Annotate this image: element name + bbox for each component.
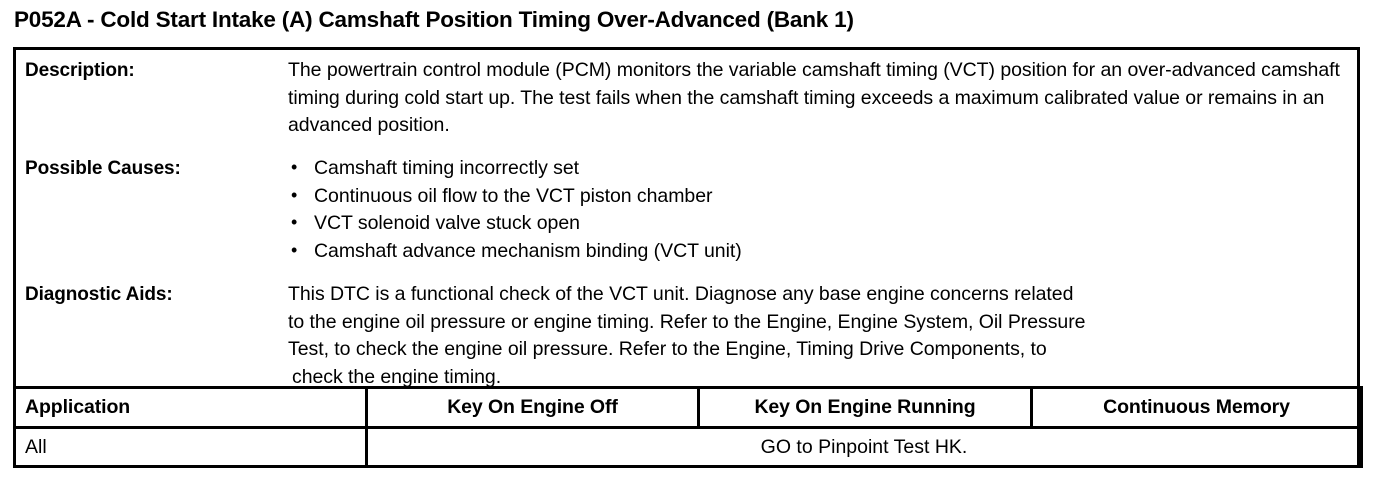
list-item-label: Continuous oil flow to the VCT piston ch…	[314, 185, 712, 207]
diagnostic-aids-line-3: Test, to check the engine oil pressure. …	[288, 336, 1343, 364]
list-item-label: VCT solenoid valve stuck open	[314, 212, 580, 234]
cell-action: GO to Pinpoint Test HK.	[367, 428, 1362, 467]
cell-application: All	[15, 428, 367, 467]
possible-causes-label: Possible Causes:	[16, 155, 288, 265]
column-header-continuous-memory: Continuous Memory	[1032, 388, 1362, 428]
description-label: Description:	[16, 57, 288, 140]
dtc-page: P052A - Cold Start Intake (A) Camshaft P…	[0, 0, 1392, 488]
list-item: • VCT solenoid valve stuck open	[288, 210, 1343, 238]
list-item: • Camshaft advance mechanism binding (VC…	[288, 238, 1343, 266]
column-header-key-on-engine-off: Key On Engine Off	[367, 388, 699, 428]
list-item: • Continuous oil flow to the VCT piston …	[288, 183, 1343, 211]
page-title: P052A - Cold Start Intake (A) Camshaft P…	[14, 7, 854, 33]
bullet-icon: •	[291, 209, 297, 237]
bullet-icon: •	[291, 154, 297, 182]
section-possible-causes: Possible Causes: • Camshaft timing incor…	[16, 155, 1357, 265]
table-header-row: Application Key On Engine Off Key On Eng…	[15, 388, 1362, 428]
section-description: Description: The powertrain control modu…	[16, 57, 1357, 140]
possible-causes-body: • Camshaft timing incorrectly set • Cont…	[288, 155, 1357, 265]
bullet-icon: •	[291, 237, 297, 265]
diagnostic-aids-body: This DTC is a functional check of the VC…	[288, 281, 1357, 391]
description-text: The powertrain control module (PCM) moni…	[288, 57, 1343, 140]
description-body: The powertrain control module (PCM) moni…	[288, 57, 1357, 140]
diagnostic-aids-line-2: to the engine oil pressure or engine tim…	[288, 309, 1343, 337]
dtc-info-box: Description: The powertrain control modu…	[13, 47, 1360, 468]
bullet-icon: •	[291, 182, 297, 210]
list-item-label: Camshaft advance mechanism binding (VCT …	[314, 240, 742, 262]
column-header-application: Application	[15, 388, 367, 428]
application-table: Application Key On Engine Off Key On Eng…	[13, 386, 1363, 468]
table-row: All GO to Pinpoint Test HK.	[15, 428, 1362, 467]
list-item-label: Camshaft timing incorrectly set	[314, 157, 579, 179]
diagnostic-aids-line-1: This DTC is a functional check of the VC…	[288, 281, 1343, 309]
column-header-key-on-engine-running: Key On Engine Running	[699, 388, 1032, 428]
dtc-sections: Description: The powertrain control modu…	[16, 50, 1357, 392]
section-diagnostic-aids: Diagnostic Aids: This DTC is a functiona…	[16, 281, 1357, 391]
list-item: • Camshaft timing incorrectly set	[288, 155, 1343, 183]
possible-causes-list: • Camshaft timing incorrectly set • Cont…	[288, 155, 1343, 265]
diagnostic-aids-label: Diagnostic Aids:	[16, 281, 288, 391]
